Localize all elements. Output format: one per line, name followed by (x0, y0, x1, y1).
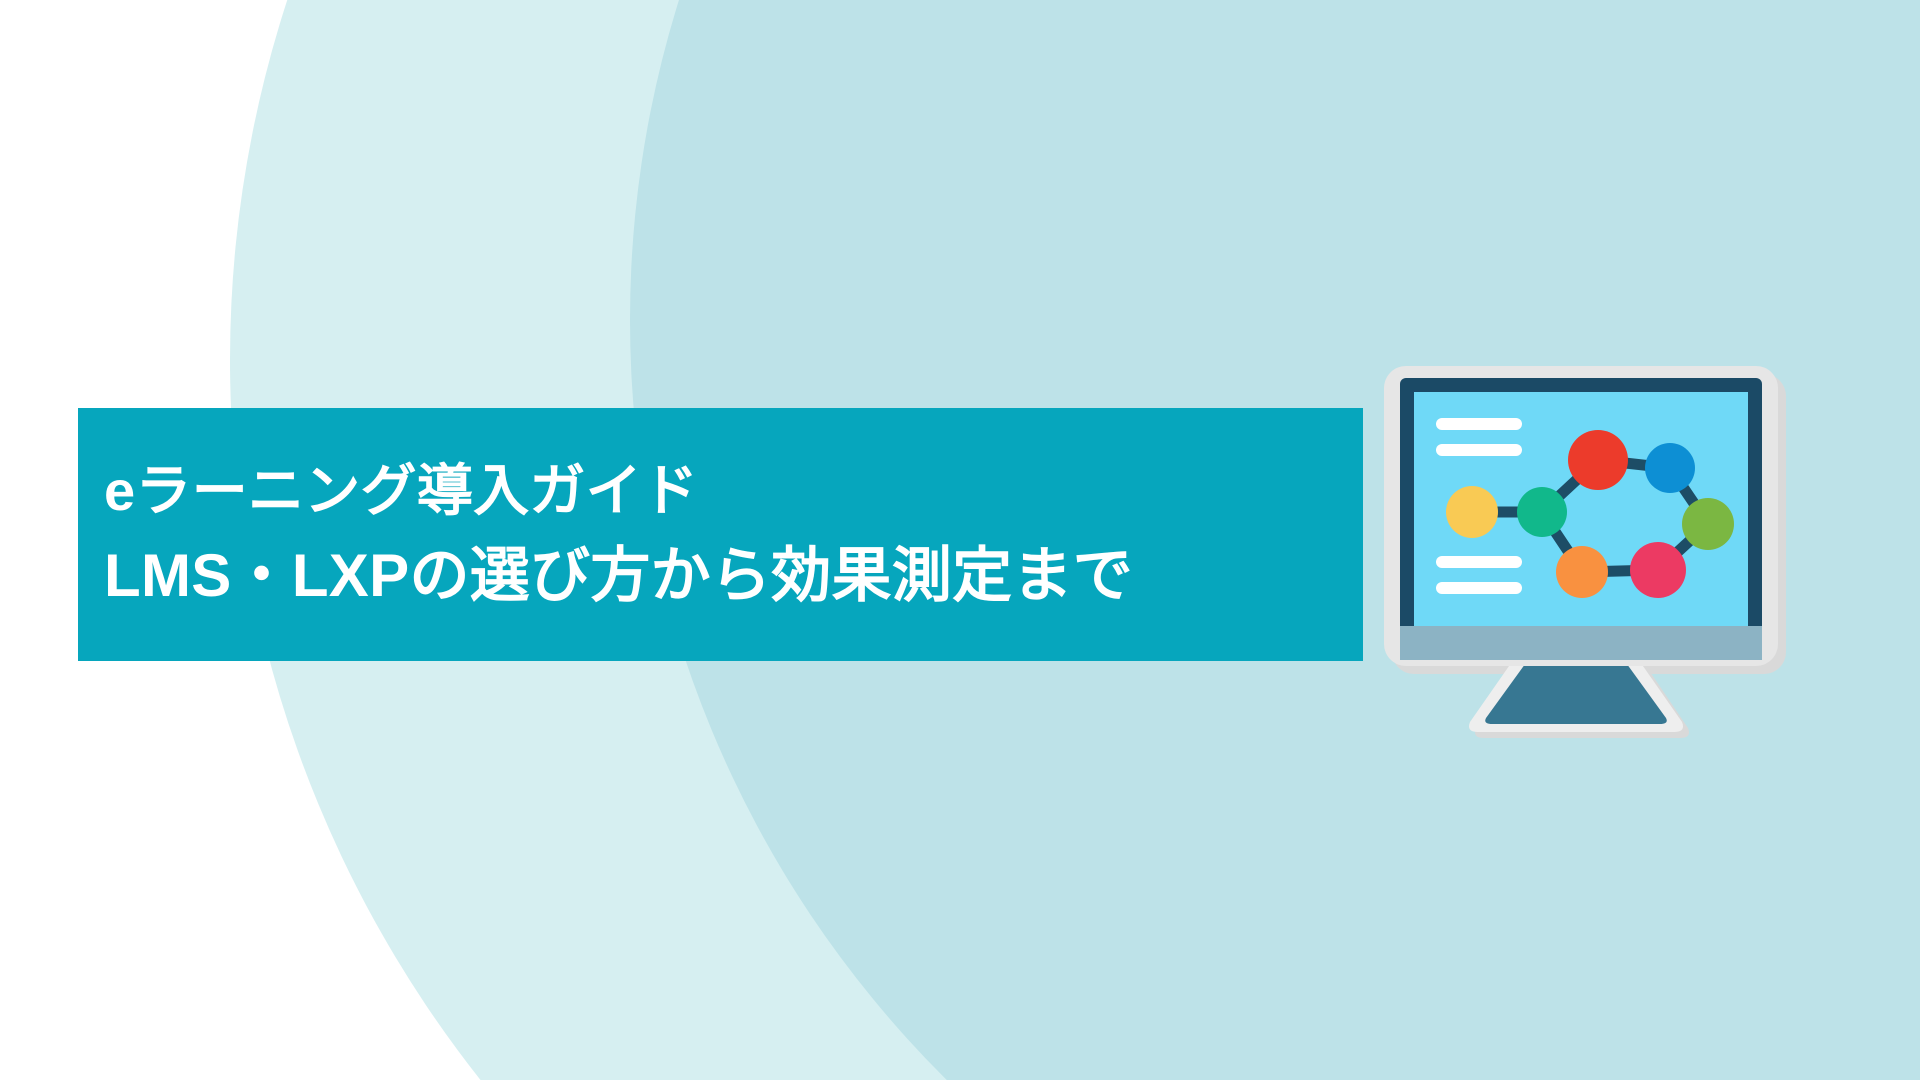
node-red (1568, 430, 1628, 490)
title-line-secondary: LMS・LXPの選び方から効果測定まで (104, 545, 1363, 606)
slide-canvas: eラーニング導入ガイド LMS・LXPの選び方から効果測定まで (0, 0, 1920, 1080)
screen-text-line-1 (1436, 418, 1522, 430)
node-teal (1517, 487, 1567, 537)
screen-text-line-4 (1436, 582, 1522, 594)
node-orange (1556, 546, 1608, 598)
node-olive (1682, 498, 1734, 550)
node-yellow (1446, 486, 1498, 538)
screen-text-line-3 (1436, 556, 1522, 568)
title-band: eラーニング導入ガイド LMS・LXPの選び方から効果測定まで (78, 408, 1363, 661)
monitor-illustration (1370, 360, 1810, 760)
screen-text-line-2 (1436, 444, 1522, 456)
title-line-primary: eラーニング導入ガイド (104, 462, 1363, 519)
monitor-bottom-bar (1400, 626, 1762, 660)
node-pink (1630, 542, 1686, 598)
node-blue (1645, 443, 1695, 493)
